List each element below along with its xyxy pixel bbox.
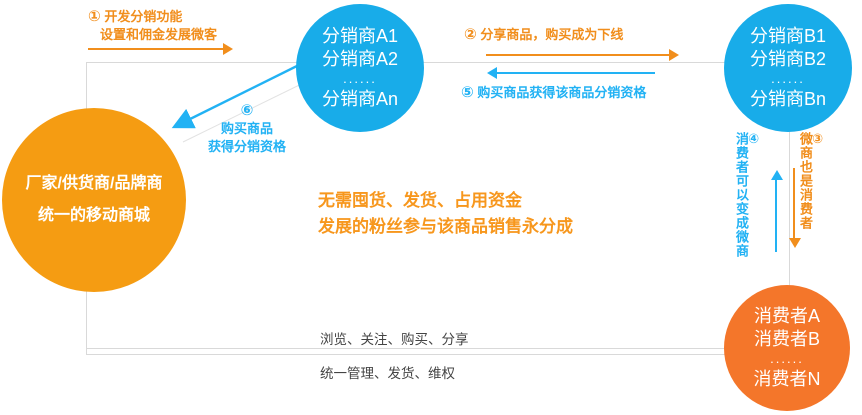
step-1-label: ① 开发分销功能 设置和佣金发展微客 bbox=[88, 6, 217, 44]
distributor-b-ellipsis: ...... bbox=[771, 72, 805, 86]
step-5-number: ⑤ bbox=[461, 83, 474, 101]
distributor-b-circle[interactable]: 分销商B1 分销商B2 ...... 分销商Bn bbox=[724, 4, 852, 132]
step-2-line-1: 分享商品，购买成为下线 bbox=[480, 27, 623, 42]
step-4-label: ④ 消费者可以变成微商 bbox=[735, 132, 760, 258]
diagram-canvas: 厂家/供货商/品牌商 统一的移动商城 分销商A1 分销商A2 ...... 分销… bbox=[0, 0, 862, 415]
step-6-line-1: 购买商品 bbox=[208, 120, 286, 138]
step-1-line-2: 设置和佣金发展微客 bbox=[88, 26, 217, 44]
step-5-label: ⑤ 购买商品获得该商品分销资格 bbox=[461, 82, 646, 102]
consumer-line-1: 消费者A bbox=[754, 305, 820, 328]
step-1-number: ① bbox=[88, 7, 101, 25]
caption-manage: 统一管理、发货、维权 bbox=[320, 362, 455, 382]
step-5-line-1: 购买商品获得该商品分销资格 bbox=[477, 85, 646, 100]
consumer-ellipsis: ...... bbox=[770, 352, 804, 366]
center-headline-line-1: 无需囤货、发货、占用资金 bbox=[318, 188, 573, 214]
consumer-line-3: 消费者N bbox=[754, 368, 821, 391]
arrow-step-1-shaft bbox=[88, 48, 225, 50]
step-4-line-1: 消费者可以变成微商 bbox=[734, 132, 749, 258]
step-6-number: ⑥ bbox=[208, 100, 286, 120]
arrow-step-3-head bbox=[789, 238, 801, 248]
distributor-a-ellipsis: ...... bbox=[343, 72, 377, 86]
arrow-step-5-shaft bbox=[497, 72, 655, 74]
step-3-line-1: 微商也是消费者 bbox=[798, 132, 813, 230]
distributor-a-circle[interactable]: 分销商A1 分销商A2 ...... 分销商An bbox=[296, 4, 424, 132]
consumer-circle[interactable]: 消费者A 消费者B ...... 消费者N bbox=[724, 285, 850, 411]
frame-top-line bbox=[86, 62, 789, 63]
arrow-step-2-shaft bbox=[486, 54, 671, 56]
distributor-b-line-3: 分销商Bn bbox=[750, 88, 826, 111]
step-2-label: ② 分享商品，购买成为下线 bbox=[464, 24, 623, 44]
step-4-number: ④ bbox=[748, 132, 760, 145]
arrow-step-4-head bbox=[771, 170, 783, 180]
arrow-step-1-head bbox=[223, 43, 233, 55]
center-headline: 无需囤货、发货、占用资金 发展的粉丝参与该商品销售永分成 bbox=[318, 188, 573, 241]
arrow-step-3-shaft bbox=[793, 168, 795, 240]
step-6-line-2: 获得分销资格 bbox=[208, 138, 286, 156]
distributor-a-line-3: 分销商An bbox=[322, 88, 398, 111]
arrow-step-2-head bbox=[669, 49, 679, 61]
step-3-label: ③ 微商也是消费者 bbox=[799, 132, 824, 230]
arrow-step-5-head bbox=[487, 67, 497, 79]
supplier-line-2: 统一的移动商城 bbox=[38, 206, 150, 226]
frame-caption-divider-line bbox=[86, 348, 789, 349]
center-headline-line-2: 发展的粉丝参与该商品销售永分成 bbox=[318, 214, 573, 240]
step-3-number: ③ bbox=[812, 132, 824, 145]
step-6-label: ⑥ 购买商品 获得分销资格 bbox=[208, 100, 286, 155]
supplier-circle[interactable]: 厂家/供货商/品牌商 统一的移动商城 bbox=[2, 108, 186, 292]
frame-bottom-line bbox=[86, 354, 789, 355]
step-2-number: ② bbox=[464, 25, 477, 43]
distributor-a-line-2: 分销商A2 bbox=[322, 48, 398, 71]
distributor-b-line-2: 分销商B2 bbox=[750, 48, 826, 71]
consumer-line-2: 消费者B bbox=[754, 328, 820, 351]
supplier-line-1: 厂家/供货商/品牌商 bbox=[26, 174, 163, 194]
step-1-line-1: 开发分销功能 bbox=[104, 9, 182, 24]
arrow-step-4-shaft bbox=[775, 180, 777, 252]
distributor-b-line-1: 分销商B1 bbox=[750, 25, 826, 48]
distributor-a-line-1: 分销商A1 bbox=[322, 25, 398, 48]
caption-browse: 浏览、关注、购买、分享 bbox=[320, 328, 469, 348]
